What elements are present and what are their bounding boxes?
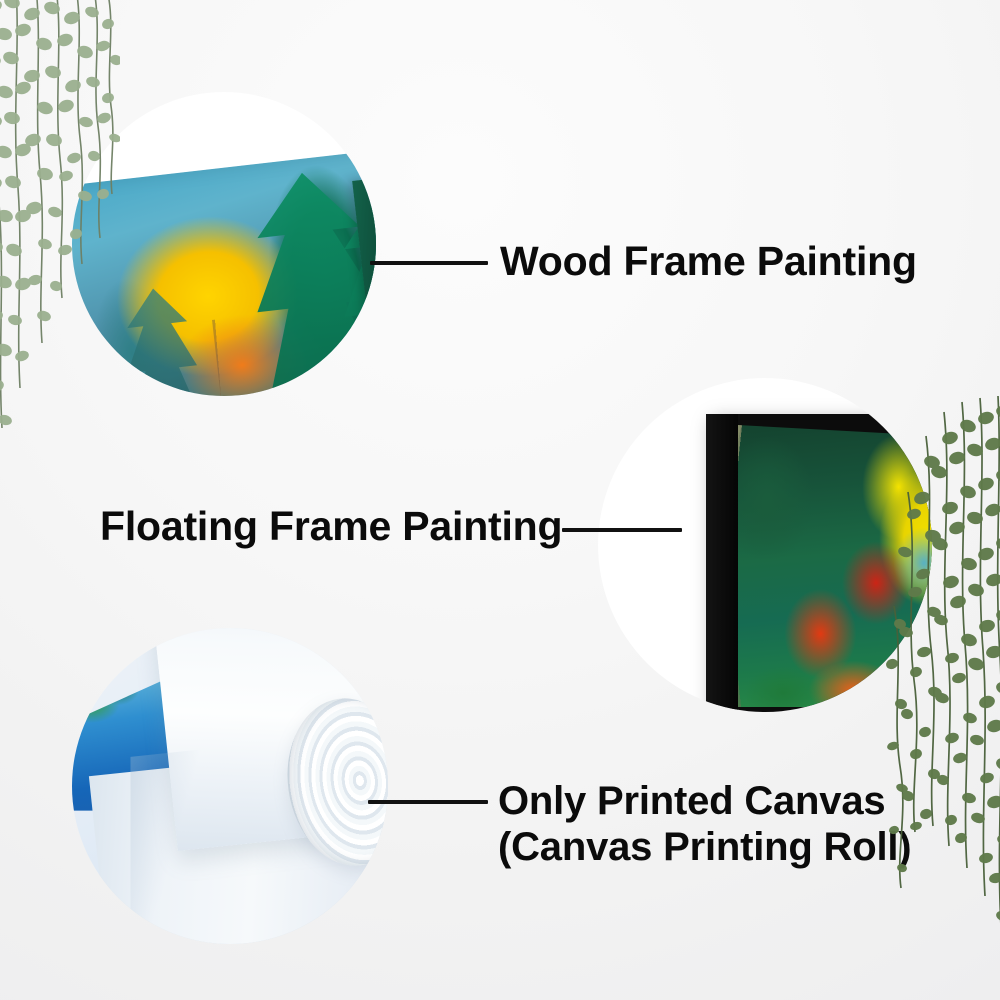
circle-floating-frame[interactable] xyxy=(598,378,932,712)
infographic-canvas: Wood Frame Painting Floating Frame Paint… xyxy=(0,0,1000,1000)
sky-patch xyxy=(894,528,932,598)
floating-frame-side-edge xyxy=(706,414,738,712)
canvas-fold-shadow xyxy=(130,738,309,944)
label-wood-frame-painting: Wood Frame Painting xyxy=(500,238,917,285)
wood-frame-artwork xyxy=(72,146,376,396)
label-floating-frame-painting: Floating Frame Painting xyxy=(100,503,562,550)
circle-wood-frame[interactable] xyxy=(72,92,376,396)
circle-printed-canvas[interactable] xyxy=(72,628,388,944)
connector-line-printed-canvas xyxy=(368,800,488,804)
fir-tree-icon xyxy=(118,285,203,396)
connector-line-floating-frame xyxy=(562,528,682,532)
connector-line-wood-frame xyxy=(370,261,488,265)
label-only-printed-canvas: Only Printed Canvas (Canvas Printing Rol… xyxy=(498,779,911,870)
tree-trunks xyxy=(212,303,376,396)
